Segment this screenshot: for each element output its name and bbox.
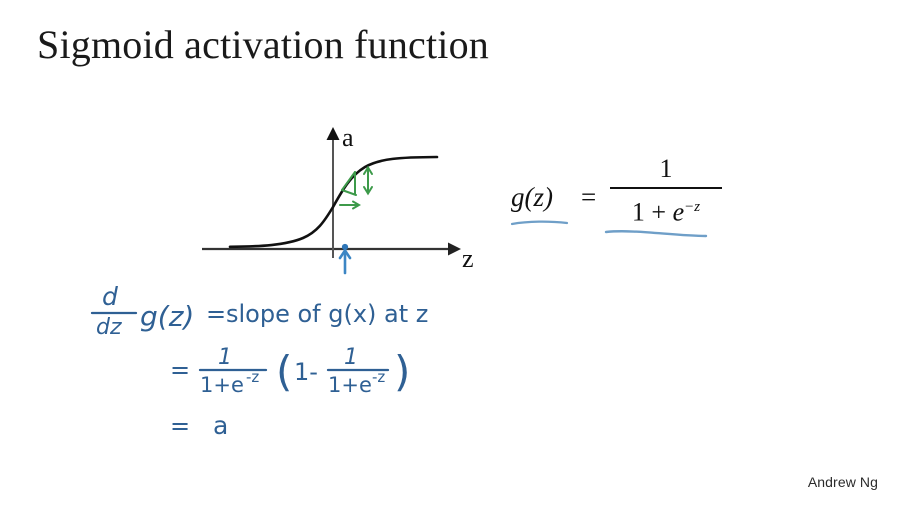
formula-fraction: 1 1 + e−z bbox=[610, 154, 722, 229]
hw-frac2-denominator: 1+e bbox=[328, 373, 372, 397]
author-credit: Andrew Ng bbox=[808, 474, 878, 490]
page-title: Sigmoid activation function bbox=[37, 22, 489, 68]
formula-numerator: 1 bbox=[610, 154, 722, 184]
handwriting-line-derivative-expansion: = 1 1+e -z ( 1- 1 1+e -z ) bbox=[170, 345, 410, 397]
handwriting-line-derivative-definition: d dz g(z) = slope of g(x) at z bbox=[92, 282, 428, 340]
hw-frac2-numerator: 1 bbox=[344, 345, 358, 370]
slide-canvas: Sigmoid activation function a z bbox=[0, 0, 900, 506]
hw-one-minus: 1- bbox=[294, 358, 318, 386]
hw-slope-phrase: slope of g(x) at z bbox=[226, 300, 428, 328]
formula-denominator: 1 + e−z bbox=[610, 191, 722, 229]
hw-equals-2: = bbox=[170, 356, 190, 384]
hw-frac1-denominator-exponent: -z bbox=[246, 368, 259, 386]
y-axis-label: a bbox=[342, 123, 354, 152]
sigmoid-graph: a z bbox=[190, 118, 490, 288]
hw-gz: g(z) bbox=[140, 300, 194, 333]
hw-result-a: a bbox=[213, 411, 228, 440]
denominator-prefix: 1 + bbox=[632, 198, 673, 227]
underline-under-fraction bbox=[604, 227, 709, 246]
hw-equals-1: = bbox=[206, 300, 226, 328]
x-axis-label: z bbox=[462, 244, 474, 273]
hw-frac1-denominator: 1+e bbox=[200, 373, 244, 397]
handwritten-derivation: d dz g(z) = slope of g(x) at z = 1 1+e -… bbox=[88, 282, 518, 457]
underline-under-gz bbox=[510, 216, 570, 234]
hw-frac2-denominator-exponent: -z bbox=[372, 368, 385, 386]
y-axis bbox=[327, 127, 340, 258]
hw-d-numerator: d bbox=[102, 282, 118, 311]
denominator-exponent: −z bbox=[684, 199, 700, 215]
x-axis bbox=[202, 243, 461, 256]
hw-frac1-numerator: 1 bbox=[218, 345, 232, 370]
hw-paren-open: ( bbox=[276, 347, 292, 396]
formula-left-hand-side: g(z) bbox=[511, 182, 553, 213]
hw-equals-3: = bbox=[170, 412, 190, 440]
hw-dz-denominator: dz bbox=[96, 315, 122, 340]
formula-fraction-bar bbox=[610, 187, 722, 189]
denominator-base: e bbox=[673, 198, 685, 227]
formula-equals-sign: = bbox=[581, 182, 596, 213]
hw-paren-close: ) bbox=[394, 347, 410, 396]
handwriting-line-derivative-result: = a bbox=[170, 411, 228, 440]
